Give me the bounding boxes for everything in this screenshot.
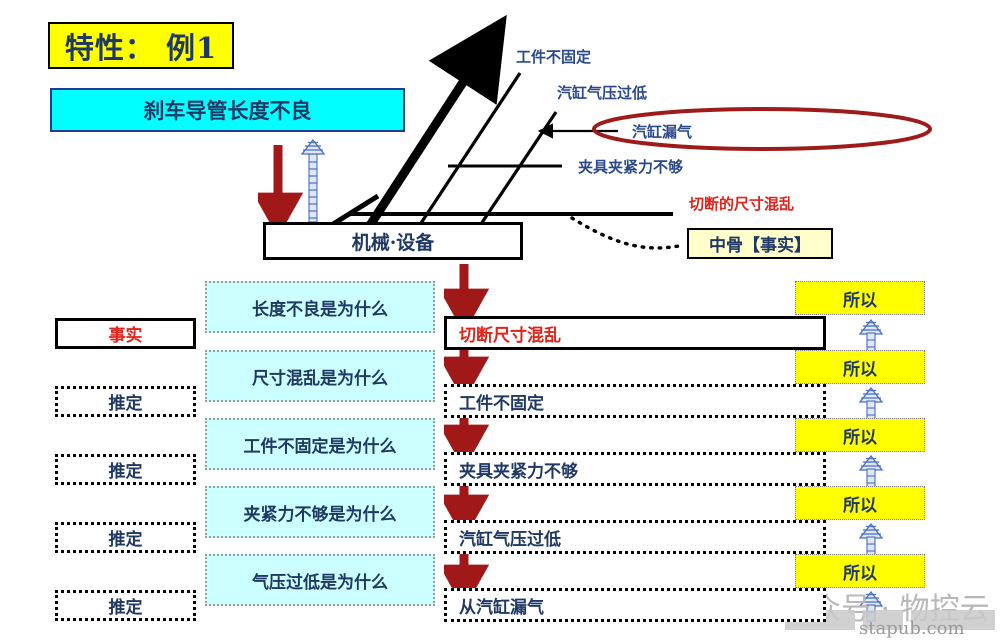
so-cell-row-4[interactable]: 所以	[795, 486, 925, 520]
note-label: 中骨【事实】	[709, 231, 811, 256]
fact-cell-row-2[interactable]: 工件不固定	[444, 384, 826, 418]
why-label-row-5: 气压过低是为什么	[252, 568, 388, 593]
why-label-row-4: 夹紧力不够是为什么	[244, 500, 397, 525]
so-label-row-5: 所以	[843, 559, 877, 584]
fact-label-row-3: 夹具夹紧力不够	[459, 457, 578, 482]
so-label-row-3: 所以	[843, 423, 877, 448]
so-cell-row-5[interactable]: 所以	[795, 554, 925, 588]
why-cell-row-5[interactable]: 气压过低是为什么	[205, 554, 435, 606]
judgement-label-row-2: 推定	[109, 389, 143, 414]
so-label-row-1: 所以	[843, 286, 877, 311]
note-connector	[572, 218, 684, 248]
effect-label: 刹车导管长度不良	[144, 95, 312, 125]
fact-cell-row-1[interactable]: 切断尺寸混乱	[444, 316, 826, 350]
bone-label-cylinder-pressure-low: 汽缸气压过低	[557, 82, 647, 103]
fact-cell-row-4[interactable]: 汽缸气压过低	[444, 520, 826, 554]
slide-canvas: 特性： 例1 刹车导管长度不良 机械·设备 中骨【事实】 工件不固定 汽缸气压过…	[0, 0, 1007, 644]
category-label: 机械·设备	[352, 228, 435, 255]
judgement-label-row-4: 推定	[109, 525, 143, 550]
bone-label-cut-dimension-variation: 切断的尺寸混乱	[689, 193, 794, 214]
slide-title-box: 特性： 例1	[48, 22, 234, 69]
fact-cell-row-3[interactable]: 夹具夹紧力不够	[444, 452, 826, 486]
bone-label-workpiece-loose: 工件不固定	[516, 46, 591, 67]
judgement-cell-row-3[interactable]: 推定	[55, 454, 196, 485]
judgement-cell-row-1[interactable]: 事实	[55, 318, 196, 349]
why-cell-row-2[interactable]: 尺寸混乱是为什么	[205, 350, 435, 402]
fact-label-row-5: 从汽缸漏气	[459, 593, 544, 618]
effect-box: 刹车导管长度不良	[50, 88, 405, 132]
why-label-row-2: 尺寸混乱是为什么	[252, 364, 388, 389]
why-label-row-1: 长度不良是为什么	[252, 295, 388, 320]
judgement-label-row-5: 推定	[109, 593, 143, 618]
judgement-cell-row-2[interactable]: 推定	[55, 386, 196, 417]
judgement-label-row-3: 推定	[109, 457, 143, 482]
fact-label-row-1: 切断尺寸混乱	[459, 321, 561, 346]
so-cell-row-1[interactable]: 所以	[795, 281, 925, 315]
note-box-middle-bone: 中骨【事实】	[687, 228, 833, 259]
bone-label-clamp-force-insufficient: 夹具夹紧力不够	[578, 156, 683, 177]
fact-label-row-4: 汽缸气压过低	[459, 525, 561, 550]
fact-cell-row-5[interactable]: 从汽缸漏气	[444, 588, 826, 622]
slide-title: 特性： 例1	[65, 25, 217, 67]
so-label-row-2: 所以	[843, 355, 877, 380]
so-cell-row-3[interactable]: 所以	[795, 418, 925, 452]
so-cell-row-2[interactable]: 所以	[795, 350, 925, 384]
why-label-row-3: 工件不固定是为什么	[244, 432, 397, 457]
judgement-cell-row-4[interactable]: 推定	[55, 522, 196, 553]
judgement-label-row-1: 事实	[109, 321, 143, 346]
so-label-row-4: 所以	[843, 491, 877, 516]
category-box-machine: 机械·设备	[263, 222, 523, 260]
judgement-cell-row-5[interactable]: 推定	[55, 590, 196, 621]
why-cell-row-3[interactable]: 工件不固定是为什么	[205, 418, 435, 470]
bone-label-cylinder-leak: 汽缸漏气	[632, 121, 692, 142]
why-cell-row-4[interactable]: 夹紧力不够是为什么	[205, 486, 435, 538]
fact-label-row-2: 工件不固定	[459, 389, 544, 414]
why-cell-row-1[interactable]: 长度不良是为什么	[205, 281, 435, 333]
